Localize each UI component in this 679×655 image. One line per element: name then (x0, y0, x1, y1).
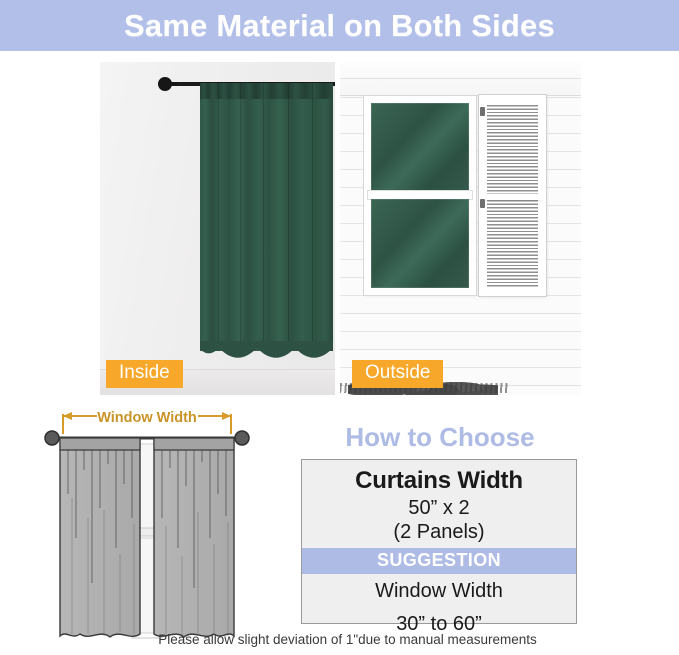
curtain-fold (240, 83, 241, 351)
specification-table: Curtains Width 50” x 2 (2 Panels) SUGGES… (301, 459, 577, 624)
curtain-rod-pocket (200, 83, 333, 99)
curtain-fold (288, 83, 289, 351)
how-to-choose-title: How to Choose (300, 422, 580, 453)
rod-finial-icon (158, 77, 172, 91)
measure-label: Window Width (97, 410, 197, 426)
comparison-photo-row (0, 51, 679, 395)
badge-outside: Outside (352, 360, 443, 388)
spec-size-value: 50” x 2 (302, 495, 576, 520)
shutter-center-rail (483, 194, 542, 200)
window-pane-bottom (371, 199, 469, 288)
diagram-finial-right-icon (235, 431, 249, 445)
window-mullion (368, 191, 472, 199)
louvered-shutter (479, 95, 546, 296)
diagram-finial-left-icon (45, 431, 59, 445)
curtain-fold (312, 83, 313, 351)
window-frame (364, 96, 476, 295)
suggestion-band: SUGGESTION (302, 548, 576, 574)
curtain-fold (218, 83, 219, 351)
green-curtain-panel (200, 83, 333, 351)
shutter-hinge-icon (480, 107, 485, 116)
header-banner: Same Material on Both Sides (0, 0, 679, 51)
photo-inside-view (100, 62, 335, 395)
spec-panels-value: (2 Panels) (302, 520, 576, 548)
window-width-diagram: Window Width (22, 398, 272, 648)
spec-heading: Curtains Width (302, 460, 576, 495)
window-pane-top (371, 103, 469, 191)
photo-outside-view (340, 62, 581, 395)
page-title: Same Material on Both Sides (124, 8, 555, 44)
shutter-hinge-icon (480, 199, 485, 208)
curtain-hem (200, 341, 333, 363)
spec-window-width-label: Window Width (302, 574, 576, 607)
diagram-curtain-panel-right (154, 438, 234, 637)
soffit-trim (340, 62, 581, 96)
badge-inside: Inside (106, 360, 183, 388)
diagram-curtain-panel-left (60, 438, 140, 637)
measurement-disclaimer: Please allow slight deviation of 1"due t… (0, 632, 679, 647)
curtain-fold (263, 83, 264, 351)
